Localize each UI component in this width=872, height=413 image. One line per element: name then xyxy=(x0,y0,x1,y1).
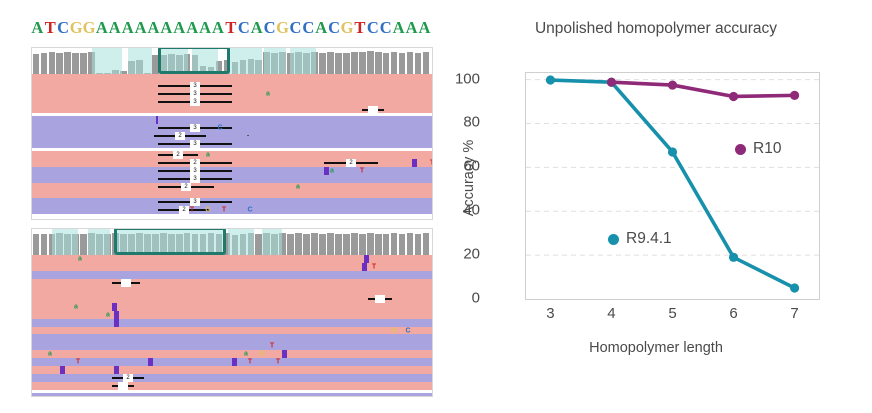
coverage-bar xyxy=(41,53,48,74)
read-row[interactable]: 2 xyxy=(32,374,432,382)
mismatch-base: G xyxy=(205,207,210,214)
sequence-base-c: C xyxy=(328,16,341,40)
coverage-bar xyxy=(327,233,334,255)
sequence-base-c: C xyxy=(237,16,250,40)
insertion-marker xyxy=(114,311,119,319)
sequence-base-t: T xyxy=(44,16,57,40)
legend-dot-r10 xyxy=(735,144,746,155)
read-row[interactable] xyxy=(32,366,432,374)
data-point xyxy=(729,253,738,262)
reference-sequence-ruler: ATCGGAAAAAAAAAATCACGCCACGTCCAAA xyxy=(31,16,431,40)
read-row[interactable] xyxy=(32,334,432,342)
mismatch-base: a xyxy=(74,304,78,311)
insertion-marker xyxy=(412,159,417,167)
insertion-marker xyxy=(362,263,367,271)
plot-area xyxy=(525,72,820,300)
coverage-bar xyxy=(383,53,390,74)
region-highlight xyxy=(92,48,122,74)
insertion-marker xyxy=(112,303,117,311)
coverage-bar xyxy=(399,234,406,255)
coverage-bar xyxy=(423,52,430,74)
sequence-base-c: C xyxy=(366,16,379,40)
mismatch-base: C xyxy=(405,327,410,334)
deletion-length-label: 3 xyxy=(192,199,197,205)
mismatch-base: T xyxy=(270,343,274,350)
alignment-panel-top[interactable]: 33a33C2-32a22T3aT32a32TGTC xyxy=(31,47,433,220)
sequence-base-a: A xyxy=(186,16,199,40)
mismatch-base: C xyxy=(217,125,222,132)
read-row[interactable]: 3 xyxy=(32,140,432,148)
read-row[interactable] xyxy=(32,214,432,218)
region-highlight xyxy=(228,48,262,74)
coverage-bar xyxy=(343,53,350,74)
mismatch-base: T xyxy=(372,264,376,271)
coverage-bar xyxy=(343,234,350,255)
coverage-bar xyxy=(319,234,326,255)
coverage-bar xyxy=(359,52,366,74)
data-point xyxy=(607,78,616,87)
mismatch-base: a xyxy=(206,152,210,159)
deletion-length-label: 2 xyxy=(177,133,182,139)
sequence-base-c: C xyxy=(379,16,392,40)
deletion-length-label: 3 xyxy=(192,91,197,97)
sequence-base-a: A xyxy=(160,16,173,40)
x-axis-label: Homopolymer length xyxy=(440,340,872,356)
y-axis-tick: 60 xyxy=(440,158,480,175)
legend-label-r10: R10 xyxy=(753,140,781,158)
sequence-base-a: A xyxy=(212,16,225,40)
read-row[interactable]: a xyxy=(32,255,432,263)
region-highlight xyxy=(116,229,224,255)
mismatch-base: a xyxy=(78,256,82,263)
y-axis-tick: 20 xyxy=(440,246,480,263)
mismatch-base: a xyxy=(48,351,52,358)
coverage-bar xyxy=(351,52,358,74)
coverage-bar xyxy=(415,234,422,255)
deletion-length-label: 3 xyxy=(192,141,197,147)
sequence-base-a: A xyxy=(96,16,109,40)
legend-dot-r941 xyxy=(608,234,619,245)
series-line-r10 xyxy=(611,82,794,96)
coverage-bar xyxy=(351,233,358,255)
read-row[interactable] xyxy=(32,74,432,82)
data-point xyxy=(729,92,738,101)
sequence-base-g: G xyxy=(276,16,289,40)
insertion-marker xyxy=(114,366,119,374)
coverage-bar xyxy=(407,52,414,74)
mismatch-base: a xyxy=(244,351,248,358)
coverage-bar xyxy=(152,55,159,74)
x-axis-tick: 3 xyxy=(546,305,554,322)
region-highlight xyxy=(228,229,254,255)
region-highlight xyxy=(88,229,110,255)
read-row[interactable]: 3a xyxy=(32,90,432,98)
deletion-length-label: 2 xyxy=(175,152,180,158)
read-row[interactable]: a xyxy=(32,303,432,311)
sequence-base-a: A xyxy=(173,16,186,40)
sequence-base-g: G xyxy=(70,16,83,40)
sequence-base-a: A xyxy=(31,16,44,40)
coverage-bar xyxy=(49,52,56,74)
mismatch-base: T xyxy=(190,207,194,214)
sequence-base-a: A xyxy=(392,16,405,40)
deletion-gap xyxy=(375,295,385,303)
mismatch-base: a xyxy=(330,168,334,175)
legend-label-r941: R9.4.1 xyxy=(626,230,672,248)
read-row[interactable]: 3 xyxy=(32,98,432,106)
data-point xyxy=(790,91,799,100)
y-axis-tick: 100 xyxy=(440,70,480,87)
mismatch-base: - xyxy=(247,133,249,140)
coverage-bar xyxy=(407,233,414,255)
insertion-marker xyxy=(364,255,369,263)
read-row[interactable]: 2a xyxy=(32,151,432,159)
x-axis-tick: 7 xyxy=(790,305,798,322)
accuracy-chart-pane: Unpolished homopolymer accuracy Accuracy… xyxy=(440,0,872,413)
x-axis-tick: 6 xyxy=(729,305,737,322)
x-axis-tick: 5 xyxy=(668,305,676,322)
coverage-bar xyxy=(335,234,342,255)
read-row[interactable]: 2TGTC xyxy=(32,206,432,214)
read-row[interactable]: T xyxy=(32,342,432,350)
sequence-base-g: G xyxy=(83,16,96,40)
mismatch-base: G xyxy=(259,351,264,358)
insertion-marker xyxy=(156,116,158,124)
sequence-base-a: A xyxy=(121,16,134,40)
deletion-gap xyxy=(368,106,378,113)
read-row[interactable]: 3aT xyxy=(32,167,432,175)
legend-item-r10: R10 xyxy=(735,140,781,158)
read-row[interactable] xyxy=(32,382,432,390)
coverage-track-top[interactable] xyxy=(32,48,432,74)
deletion-length-label: 3 xyxy=(192,83,197,89)
read-row[interactable]: 2a xyxy=(32,183,432,191)
plot-svg xyxy=(526,73,819,299)
insertion-marker xyxy=(282,350,287,358)
sequence-base-a: A xyxy=(147,16,160,40)
region-highlight xyxy=(52,229,78,255)
y-axis-tick: 0 xyxy=(440,290,480,307)
read-row[interactable] xyxy=(32,295,432,303)
mismatch-base: T xyxy=(430,160,433,167)
sequence-base-a: A xyxy=(250,16,263,40)
coverage-bar xyxy=(375,52,382,74)
deletion-length-label: 2 xyxy=(348,160,353,166)
coverage-bar xyxy=(80,234,87,255)
coverage-bar xyxy=(80,53,87,74)
coverage-bar xyxy=(327,52,334,74)
read-row[interactable]: 3 xyxy=(32,175,432,183)
coverage-bar xyxy=(399,53,406,74)
read-row[interactable] xyxy=(32,106,432,113)
read-row[interactable] xyxy=(32,116,432,124)
sequence-base-c: C xyxy=(302,16,315,40)
read-row[interactable]: 3 xyxy=(32,198,432,206)
region-highlight xyxy=(128,48,152,74)
coverage-bar xyxy=(287,234,294,255)
read-pileup-bottom[interactable]: aTaaGCTaaGTTT2aaG xyxy=(32,255,432,397)
deletion-length-label: 2 xyxy=(125,375,130,381)
read-row[interactable] xyxy=(32,287,432,295)
read-row[interactable]: a xyxy=(32,311,432,319)
coverage-bar xyxy=(72,53,79,74)
read-row[interactable] xyxy=(32,191,432,198)
sequence-base-t: T xyxy=(354,16,367,40)
sequence-base-a: A xyxy=(134,16,147,40)
deletion-length-label: 3 xyxy=(192,168,197,174)
mismatch-base: a xyxy=(266,91,270,98)
insertion-marker xyxy=(60,366,65,374)
deletion-length-label: 2 xyxy=(181,207,186,213)
data-point xyxy=(546,75,555,84)
data-point xyxy=(668,80,677,89)
read-row[interactable]: GC xyxy=(32,327,432,334)
mismatch-base: a xyxy=(296,184,300,191)
insertion-marker xyxy=(324,167,329,175)
read-row[interactable] xyxy=(32,271,432,279)
genome-browser-pane: ATCGGAAAAAAAAAATCACGCCACGTCCAAA 33a33C2-… xyxy=(0,0,440,413)
deletion-length-label: 2 xyxy=(192,160,197,166)
y-axis-tick: 80 xyxy=(440,114,480,131)
coverage-bar xyxy=(41,234,48,255)
insertion-marker xyxy=(148,358,153,366)
coverage-bar xyxy=(423,233,430,255)
coverage-bar xyxy=(391,52,398,74)
data-point xyxy=(790,283,799,292)
mismatch-base: G xyxy=(391,327,396,334)
region-highlight xyxy=(192,48,218,74)
coverage-bar xyxy=(391,233,398,255)
deletion-gap xyxy=(118,382,128,390)
sequence-base-t: T xyxy=(225,16,238,40)
series-line-r9-4-1 xyxy=(550,80,794,288)
coverage-bar xyxy=(33,54,40,74)
legend-item-r941: R9.4.1 xyxy=(608,230,672,248)
sequence-base-a: A xyxy=(108,16,121,40)
mismatch-base: T xyxy=(76,359,80,366)
insertion-marker xyxy=(232,358,237,366)
sequence-base-a: A xyxy=(315,16,328,40)
region-highlight xyxy=(264,48,286,74)
sequence-base-c: C xyxy=(289,16,302,40)
read-row[interactable] xyxy=(32,319,432,327)
coverage-bar xyxy=(367,233,374,255)
coverage-bar xyxy=(319,53,326,74)
sequence-base-a: A xyxy=(418,16,431,40)
x-axis-tick: 4 xyxy=(607,305,615,322)
read-row[interactable]: 3 xyxy=(32,82,432,90)
sequence-base-a: A xyxy=(199,16,212,40)
coverage-bar xyxy=(383,234,390,255)
read-row[interactable] xyxy=(32,393,432,397)
read-row[interactable] xyxy=(32,279,432,287)
deletion-length-label: 3 xyxy=(192,99,197,105)
read-row[interactable]: aaG xyxy=(32,350,432,358)
chart-title: Unpolished homopolymer accuracy xyxy=(440,20,872,38)
mismatch-base: T xyxy=(222,207,226,214)
alignment-panel-bottom[interactable]: aTaaGCTaaGTTT2aaG xyxy=(31,228,433,397)
read-row[interactable]: T xyxy=(32,263,432,271)
coverage-bar xyxy=(311,233,318,255)
sequence-base-c: C xyxy=(57,16,70,40)
coverage-bar xyxy=(359,234,366,255)
read-row[interactable]: 22T xyxy=(32,159,432,167)
data-point xyxy=(668,147,677,156)
region-highlight xyxy=(262,229,282,255)
read-row[interactable]: 2- xyxy=(32,132,432,140)
sequence-base-a: A xyxy=(405,16,418,40)
y-axis-tick: 40 xyxy=(440,202,480,219)
mismatch-base: C xyxy=(247,207,252,214)
mismatch-base: a xyxy=(106,312,110,319)
coverage-track-bottom[interactable] xyxy=(32,229,432,255)
coverage-bar xyxy=(415,53,422,74)
coverage-bar xyxy=(375,234,382,255)
region-highlight xyxy=(290,48,316,74)
mismatch-base: T xyxy=(360,168,364,175)
coverage-bar xyxy=(56,53,63,74)
coverage-bar xyxy=(295,233,302,255)
mismatch-base: T xyxy=(248,359,252,366)
insertion-marker xyxy=(114,319,119,327)
deletion-length-label: 3 xyxy=(192,176,197,182)
read-row[interactable]: TTT xyxy=(32,358,432,366)
coverage-bar xyxy=(335,53,342,74)
coverage-bar xyxy=(33,234,40,255)
deletion-length-label: 2 xyxy=(183,184,188,190)
mismatch-base: T xyxy=(276,359,280,366)
coverage-bar xyxy=(367,51,374,74)
region-highlight xyxy=(160,48,188,74)
deletion-length-label: 3 xyxy=(192,125,197,131)
coverage-bar xyxy=(64,52,71,74)
read-row[interactable]: 3C xyxy=(32,124,432,132)
coverage-bar xyxy=(303,234,310,255)
sequence-base-g: G xyxy=(341,16,354,40)
sequence-base-c: C xyxy=(263,16,276,40)
deletion-gap xyxy=(121,279,131,287)
read-pileup-top[interactable]: 33a33C2-32a22T3aT32a32TGTC xyxy=(32,74,432,218)
